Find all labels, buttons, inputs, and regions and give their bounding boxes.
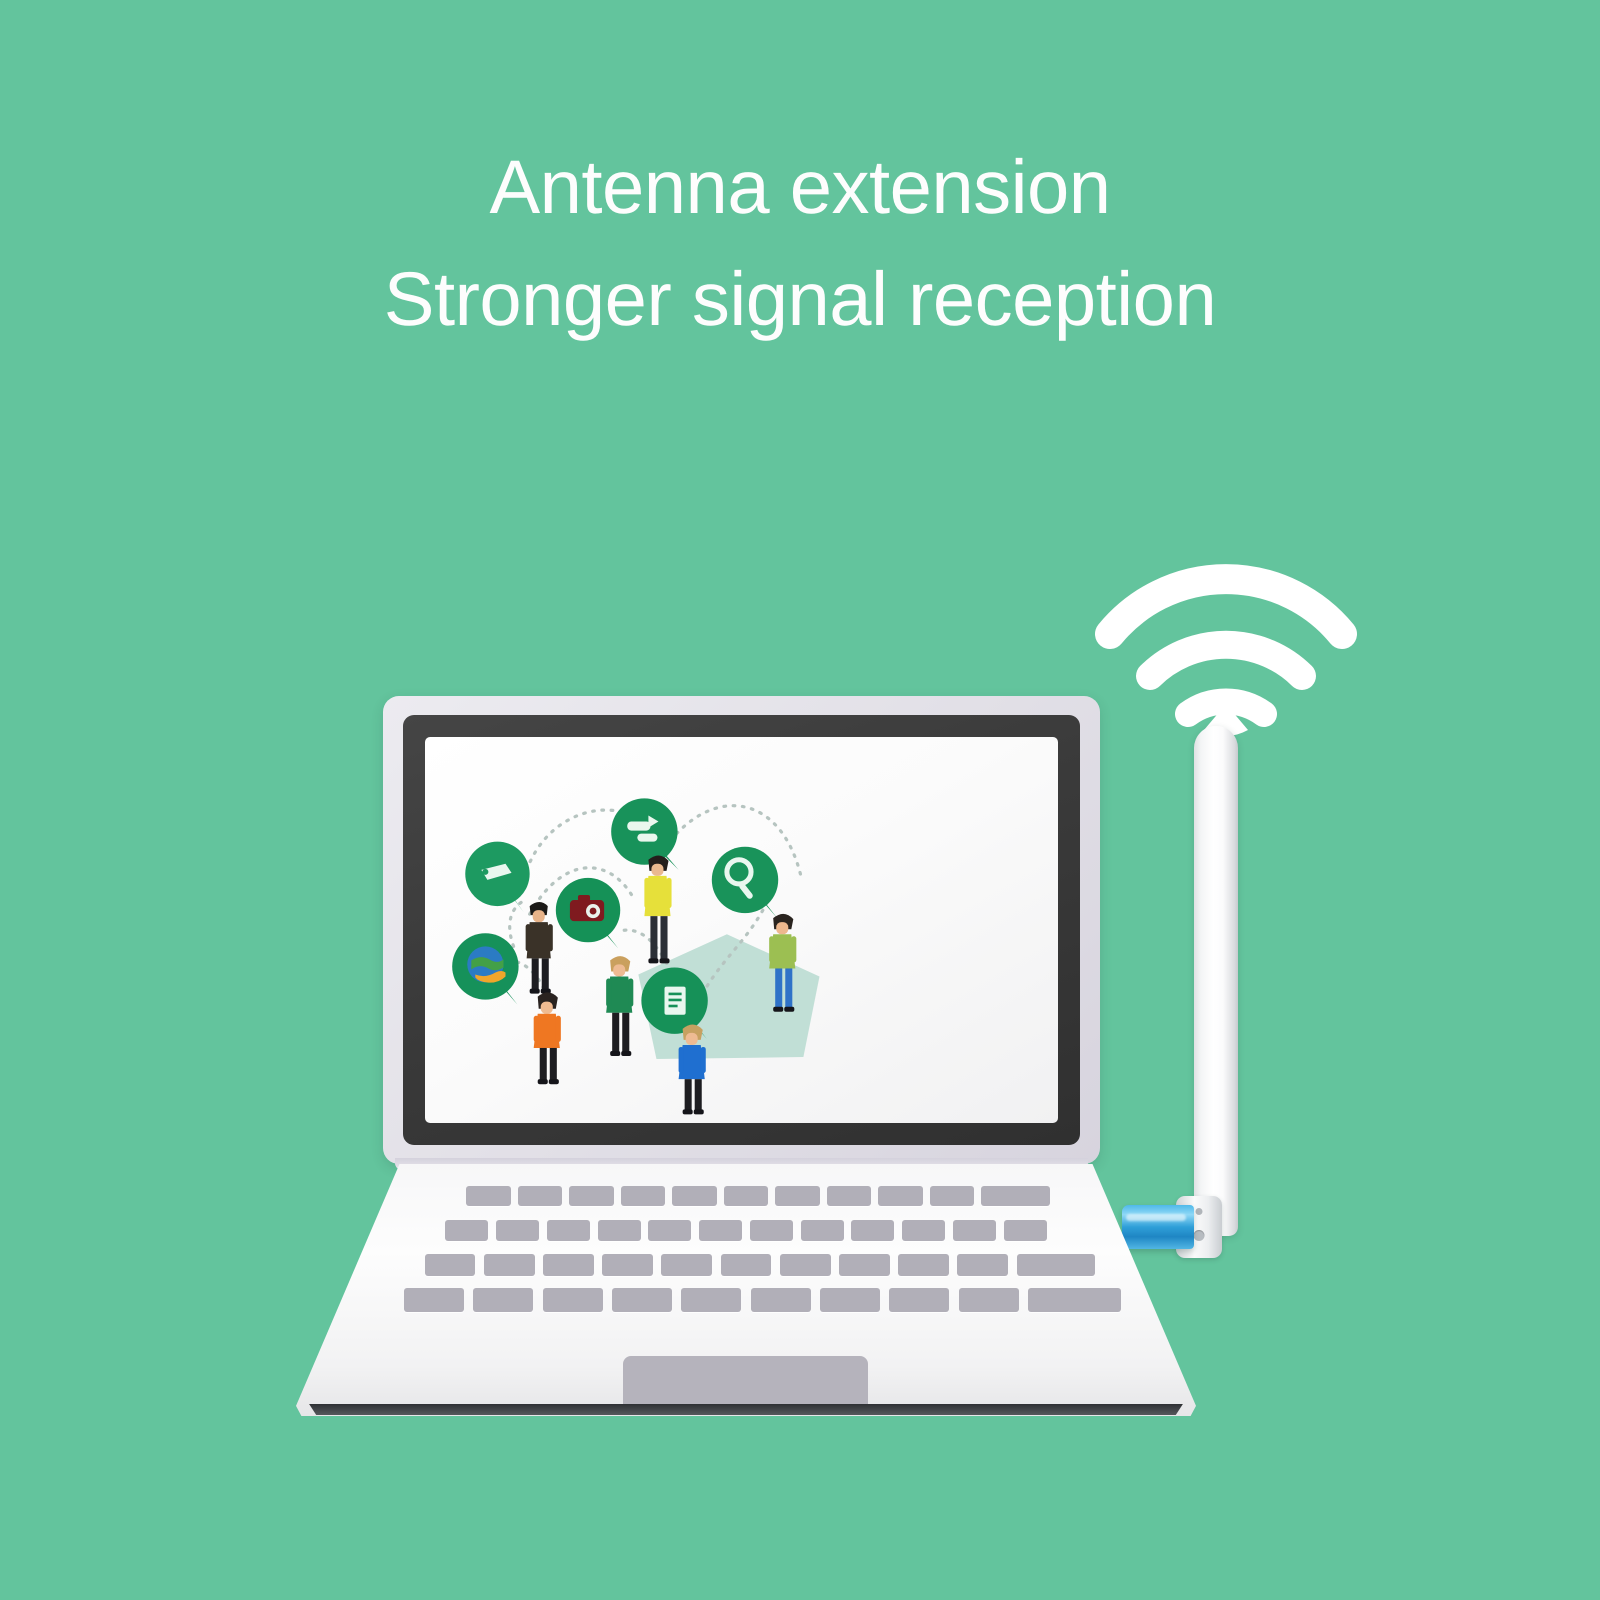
screen-bezel (403, 715, 1080, 1145)
keyboard-key[interactable] (751, 1288, 811, 1312)
keyboard-key[interactable] (1017, 1254, 1096, 1276)
keyboard-key[interactable] (775, 1186, 820, 1206)
person-orange-dress (534, 992, 561, 1084)
keyboard-key[interactable] (1028, 1288, 1121, 1312)
keyboard-key[interactable] (953, 1220, 996, 1241)
keyboard-key[interactable] (750, 1220, 793, 1241)
keyboard-key[interactable] (425, 1254, 476, 1276)
keyboard-key[interactable] (902, 1220, 945, 1241)
keyboard-key[interactable] (445, 1220, 488, 1241)
keyboard-key[interactable] (851, 1220, 894, 1241)
bubble-chat-message-icon (611, 798, 678, 869)
keyboard-key[interactable] (621, 1186, 666, 1206)
keyboard-key[interactable] (404, 1288, 464, 1312)
keyboard-key[interactable] (602, 1254, 653, 1276)
keyboard-key[interactable] (473, 1288, 533, 1312)
keyboard-key[interactable] (518, 1186, 563, 1206)
bubble-magnifier-icon (712, 847, 778, 918)
keyboard-key[interactable] (547, 1220, 590, 1241)
keyboard-key[interactable] (930, 1186, 975, 1206)
keyboard-key[interactable] (598, 1220, 641, 1241)
keyboard-key[interactable] (721, 1254, 772, 1276)
keyboard-key[interactable] (466, 1186, 511, 1206)
laptop-illustration (0, 0, 1600, 1600)
person-green-shirt (606, 956, 633, 1056)
laptop-lid (383, 696, 1100, 1164)
keyboard-key[interactable] (484, 1254, 535, 1276)
keyboard-key[interactable] (661, 1254, 712, 1276)
keyboard-key[interactable] (612, 1288, 672, 1312)
poster-canvas: Antenna extension Stronger signal recept… (0, 0, 1600, 1600)
keyboard-key[interactable] (496, 1220, 539, 1241)
keyboard-key[interactable] (820, 1288, 880, 1312)
keyboard-key[interactable] (1004, 1220, 1047, 1241)
keyboard-key[interactable] (959, 1288, 1019, 1312)
bubble-camera-icon (556, 878, 620, 948)
keyboard-key[interactable] (569, 1186, 614, 1206)
laptop-base-edge (302, 1404, 1190, 1415)
laptop-screen[interactable] (425, 737, 1058, 1123)
keyboard-key[interactable] (672, 1186, 717, 1206)
keyboard-key[interactable] (648, 1220, 691, 1241)
keyboard-key[interactable] (827, 1186, 872, 1206)
keyboard-key[interactable] (780, 1254, 831, 1276)
keyboard-key[interactable] (981, 1186, 1050, 1206)
keyboard-key[interactable] (878, 1186, 923, 1206)
keyboard-key[interactable] (839, 1254, 890, 1276)
keyboard-key[interactable] (889, 1288, 949, 1312)
keyboard-key[interactable] (543, 1254, 594, 1276)
social-network-illustration (425, 737, 1058, 1115)
keyboard-key[interactable] (724, 1186, 769, 1206)
keyboard-key[interactable] (681, 1288, 741, 1312)
keyboard-key[interactable] (801, 1220, 844, 1241)
laptop-base (296, 1164, 1196, 1416)
keyboard-key[interactable] (957, 1254, 1008, 1276)
keyboard-key[interactable] (898, 1254, 949, 1276)
bubble-globe-world-icon (452, 933, 518, 1004)
keyboard-key[interactable] (543, 1288, 603, 1312)
keyboard-key[interactable] (699, 1220, 742, 1241)
